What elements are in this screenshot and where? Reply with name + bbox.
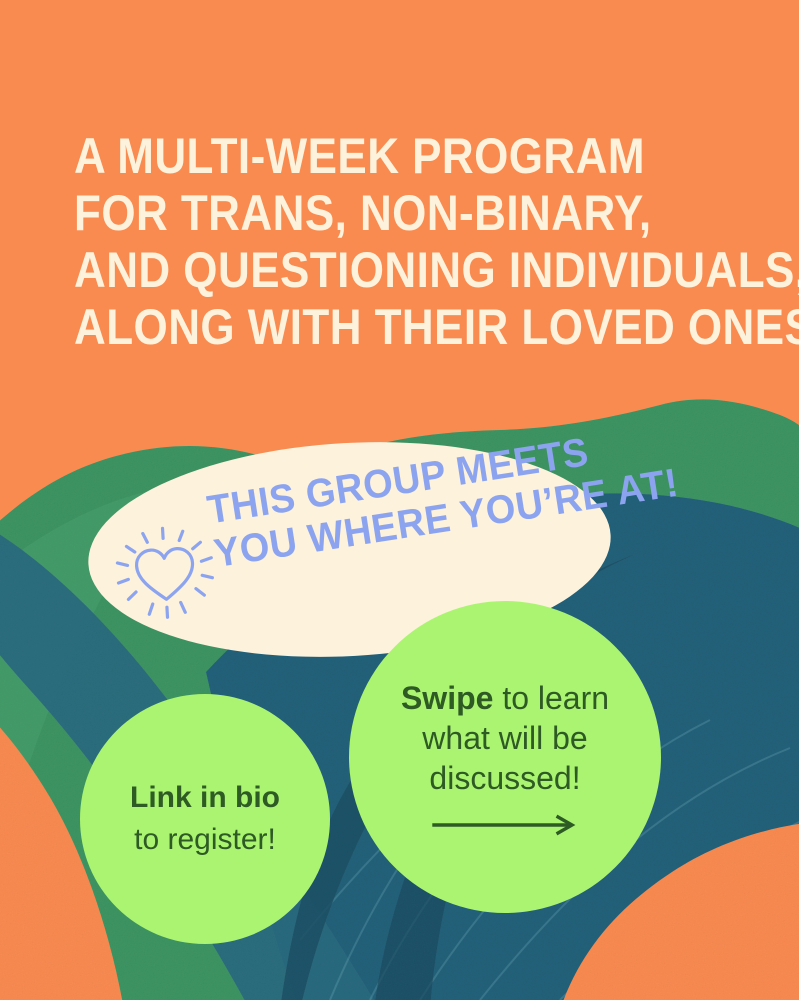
tagline-text: THIS GROUP MEETS YOU WHERE YOU’RE AT! <box>204 431 593 576</box>
headline-line-3: AND QUESTIONING INDIVIDUALS, <box>74 242 655 299</box>
headline-line-1: A MULTI-WEEK PROGRAM <box>74 128 655 185</box>
headline: A MULTI-WEEK PROGRAM FOR TRANS, NON-BINA… <box>74 128 655 356</box>
arrow-right-icon <box>430 814 580 836</box>
poster-canvas: A MULTI-WEEK PROGRAM FOR TRANS, NON-BINA… <box>0 0 799 1000</box>
heart-shine-icon <box>112 523 217 622</box>
headline-line-2: FOR TRANS, NON-BINARY, <box>74 185 655 242</box>
heart-rays <box>116 526 215 620</box>
swipe-circle[interactable]: Swipe to learn what will be discussed! <box>349 601 661 913</box>
swipe-line-1: Swipe to learn <box>401 678 609 718</box>
swipe-rest: to learn <box>493 680 609 716</box>
swipe-line-2: what will be <box>422 718 587 758</box>
headline-line-4: ALONG WITH THEIR LOVED ONES <box>74 299 655 356</box>
link-line-2: to register! <box>134 820 276 860</box>
link-in-bio-circle[interactable]: Link in bio to register! <box>80 694 330 944</box>
swipe-strong: Swipe <box>401 680 493 716</box>
swipe-line-3: discussed! <box>429 758 580 798</box>
link-line-1: Link in bio <box>130 778 280 818</box>
